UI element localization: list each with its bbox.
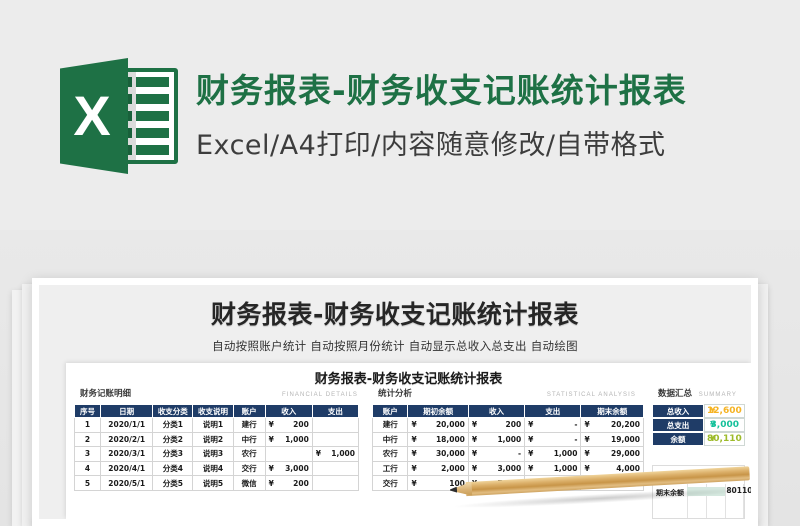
table-row[interactable]: 建行¥20,000¥200¥-¥20,200 xyxy=(373,418,644,433)
excel-letter: X xyxy=(73,88,110,144)
currency-symbol: ¥ xyxy=(528,449,533,458)
currency-symbol: ¥ xyxy=(411,464,416,473)
cell-account: 建行 xyxy=(233,418,265,433)
currency-symbol: ¥ xyxy=(710,406,716,415)
table-header-row: 账户 期初余额 收入 支出 期末余额 xyxy=(373,405,644,418)
cell-income: ¥- xyxy=(468,447,524,462)
currency-symbol: ¥ xyxy=(528,464,533,473)
currency-symbol: ¥ xyxy=(528,420,533,429)
cell-income: ¥200 xyxy=(265,418,312,433)
col-category: 收支分类 xyxy=(153,405,193,418)
cell-income: ¥200 xyxy=(468,418,524,433)
cell-no: 3 xyxy=(75,447,101,462)
currency-symbol: ¥ xyxy=(472,449,477,458)
financial-details-title-en: FINANCIAL DETAILS xyxy=(282,392,362,398)
currency-symbol: ¥ xyxy=(411,449,416,458)
cell-expense xyxy=(312,476,358,491)
cell-expense xyxy=(312,461,358,476)
col-expense: 支出 xyxy=(525,405,581,418)
table-row[interactable]: 22020/2/1分类2说明2中行¥1,000 xyxy=(75,432,359,447)
cell-opening-balance: ¥30,000 xyxy=(408,447,468,462)
cell-expense: ¥1,000 xyxy=(525,447,581,462)
banner-text-block: 财务报表-财务收支记账统计报表 Excel/A4打印/内容随意修改/自带格式 xyxy=(196,58,687,162)
cell-category: 分类4 xyxy=(153,461,193,476)
cell-income xyxy=(265,447,312,462)
cell-account: 交行 xyxy=(233,461,265,476)
currency-symbol: ¥ xyxy=(584,420,589,429)
table-row[interactable]: 12020/1/1分类1说明1建行¥200 xyxy=(75,418,359,433)
cell-desc: 说明2 xyxy=(193,432,233,447)
col-income: 收入 xyxy=(468,405,524,418)
currency-symbol: ¥ xyxy=(584,449,589,458)
summary-row-value: ¥80,110 xyxy=(704,432,745,446)
cell-account: 交行 xyxy=(373,476,408,491)
document-preview-card: 财务报表-财务收支记账统计报表 自动按照账户统计 自动按照月份统计 自动显示总收… xyxy=(32,278,758,526)
cell-expense xyxy=(312,432,358,447)
currency-symbol: ¥ xyxy=(710,420,716,429)
cell-no: 4 xyxy=(75,461,101,476)
summary-row-value: ¥12,600 xyxy=(704,404,745,418)
currency-symbol: ¥ xyxy=(710,434,716,443)
financial-details-table[interactable]: 序号 日期 收支分类 收支说明 账户 收入 支出 12020/1/1分类1说明1… xyxy=(74,404,359,491)
currency-symbol: ¥ xyxy=(472,464,477,473)
summary-title-cn: 数据汇总 xyxy=(658,387,692,399)
currency-symbol: ¥ xyxy=(584,464,589,473)
cell-income: ¥200 xyxy=(265,476,312,491)
summary-row-label: 总支出 xyxy=(652,418,704,432)
col-closing-balance: 期末余额 xyxy=(581,405,644,418)
col-income: 收入 xyxy=(265,405,312,418)
cell-closing-balance: ¥19,000 xyxy=(581,432,644,447)
cell-account: 农行 xyxy=(233,447,265,462)
currency-symbol: ¥ xyxy=(472,435,477,444)
currency-symbol: ¥ xyxy=(472,420,477,429)
summary-row-label: 总收入 xyxy=(652,404,704,418)
currency-symbol: ¥ xyxy=(528,435,533,444)
summary-row[interactable]: 总支出¥3,000 xyxy=(652,418,745,432)
cell-expense: ¥- xyxy=(525,418,581,433)
table-row[interactable]: 52020/5/1分类5说明5微信¥200 xyxy=(75,476,359,491)
currency-symbol: ¥ xyxy=(269,464,274,473)
cell-account: 工行 xyxy=(373,461,408,476)
financial-details-body: 12020/1/1分类1说明1建行¥20022020/2/1分类2说明2中行¥1… xyxy=(75,418,359,491)
banner-title: 财务报表-财务收支记账统计报表 xyxy=(196,70,687,111)
summary-row[interactable]: 总收入¥12,600 xyxy=(652,404,745,418)
cell-closing-balance: ¥29,000 xyxy=(581,447,644,462)
cell-account: 中行 xyxy=(373,432,408,447)
currency-symbol: ¥ xyxy=(269,435,274,444)
summary-row-label: 余额 xyxy=(652,432,704,446)
table-row[interactable]: 42020/4/1分类4说明4交行¥3,000 xyxy=(75,461,359,476)
summary-body: 总收入¥12,600总支出¥3,000余额¥80,110 xyxy=(652,404,745,446)
cell-income: ¥1,000 xyxy=(468,432,524,447)
cell-income: ¥3,000 xyxy=(265,461,312,476)
col-opening-balance: 期初余额 xyxy=(408,405,468,418)
col-no: 序号 xyxy=(75,405,101,418)
currency-symbol: ¥ xyxy=(269,420,274,429)
col-account: 账户 xyxy=(373,405,408,418)
col-date: 日期 xyxy=(101,405,153,418)
currency-symbol: ¥ xyxy=(411,479,416,488)
cell-category: 分类5 xyxy=(153,476,193,491)
preview-stage: 财务报表-财务收支记账统计报表 自动按照账户统计 自动按照月份统计 自动显示总收… xyxy=(0,230,800,526)
summary-row[interactable]: 余额¥80,110 xyxy=(652,432,745,446)
cell-account: 微信 xyxy=(233,476,265,491)
summary-table[interactable]: 总收入¥12,600总支出¥3,000余额¥80,110 xyxy=(652,404,745,446)
cell-income: ¥1,000 xyxy=(265,432,312,447)
chart-row-2 xyxy=(653,501,744,518)
chart-track-2 xyxy=(687,501,744,518)
financial-details-title-cn: 财务记账明细 xyxy=(80,387,131,399)
cell-date: 2020/5/1 xyxy=(101,476,153,491)
cell-opening-balance: ¥2,000 xyxy=(408,461,468,476)
summary-title-en: SUMMARY xyxy=(699,392,741,398)
cell-closing-balance: ¥20,200 xyxy=(581,418,644,433)
summary-header: 数据汇总 SUMMARY xyxy=(652,387,745,404)
cell-account: 农行 xyxy=(373,447,408,462)
cell-no: 2 xyxy=(75,432,101,447)
statistical-analysis-title-en: STATISTICAL ANALYSIS xyxy=(547,392,640,398)
banner-subtitle: Excel/A4打印/内容随意修改/自带格式 xyxy=(196,123,687,162)
summary-row-value: ¥3,000 xyxy=(704,418,745,432)
cell-category: 分类2 xyxy=(153,432,193,447)
document-subtitle: 自动按照账户统计 自动按照月份统计 自动显示总收入总支出 自动绘图 xyxy=(39,338,751,354)
cell-no: 1 xyxy=(75,418,101,433)
cell-desc: 说明3 xyxy=(193,447,233,462)
table-row[interactable]: 32020/3/1分类3说明3农行¥1,000 xyxy=(75,447,359,462)
cell-account: 建行 xyxy=(373,418,408,433)
cell-date: 2020/4/1 xyxy=(101,461,153,476)
currency-symbol: ¥ xyxy=(411,435,416,444)
excel-x-badge: X xyxy=(60,58,128,174)
promo-banner: X 财务报表-财务收支记账统计报表 Excel/A4打印/内容随意修改/自带格式 xyxy=(0,0,800,230)
currency-symbol: ¥ xyxy=(411,420,416,429)
banner-content: X 财务报表-财务收支记账统计报表 Excel/A4打印/内容随意修改/自带格式 xyxy=(60,58,687,174)
col-expense: 支出 xyxy=(312,405,358,418)
table-header-row: 序号 日期 收支分类 收支说明 账户 收入 支出 xyxy=(75,405,359,418)
col-desc: 收支说明 xyxy=(193,405,233,418)
excel-logo-icon: X xyxy=(60,58,180,174)
cell-desc: 说明4 xyxy=(193,461,233,476)
statistical-analysis-header: 统计分析 STATISTICAL ANALYSIS xyxy=(372,387,644,404)
cell-date: 2020/1/1 xyxy=(101,418,153,433)
table-row[interactable]: 农行¥30,000¥-¥1,000¥29,000 xyxy=(373,447,644,462)
cell-expense: ¥1,000 xyxy=(312,447,358,462)
currency-symbol: ¥ xyxy=(584,435,589,444)
cell-no: 5 xyxy=(75,476,101,491)
cell-expense: ¥- xyxy=(525,432,581,447)
table-row[interactable]: 中行¥18,000¥1,000¥-¥19,000 xyxy=(373,432,644,447)
financial-details-panel: 财务记账明细 FINANCIAL DETAILS 序号 xyxy=(66,387,366,519)
cell-date: 2020/2/1 xyxy=(101,432,153,447)
cell-category: 分类1 xyxy=(153,418,193,433)
cell-opening-balance: ¥20,000 xyxy=(408,418,468,433)
cell-expense: ¥1,000 xyxy=(525,461,581,476)
cell-desc: 说明1 xyxy=(193,418,233,433)
col-account: 账户 xyxy=(233,405,265,418)
cell-opening-balance: ¥18,000 xyxy=(408,432,468,447)
cell-desc: 说明5 xyxy=(193,476,233,491)
currency-symbol: ¥ xyxy=(316,449,321,458)
cell-account: 中行 xyxy=(233,432,265,447)
worksheet-title: 财务报表-财务收支记账统计报表 xyxy=(66,363,751,387)
statistical-analysis-title-cn: 统计分析 xyxy=(378,387,412,399)
cell-category: 分类3 xyxy=(153,447,193,462)
financial-details-header: 财务记账明细 FINANCIAL DETAILS xyxy=(74,387,366,404)
document-title: 财务报表-财务收支记账统计报表 xyxy=(39,285,751,331)
currency-symbol: ¥ xyxy=(269,479,274,488)
cell-expense xyxy=(312,418,358,433)
cell-date: 2020/3/1 xyxy=(101,447,153,462)
cell-income: ¥3,000 xyxy=(468,461,524,476)
